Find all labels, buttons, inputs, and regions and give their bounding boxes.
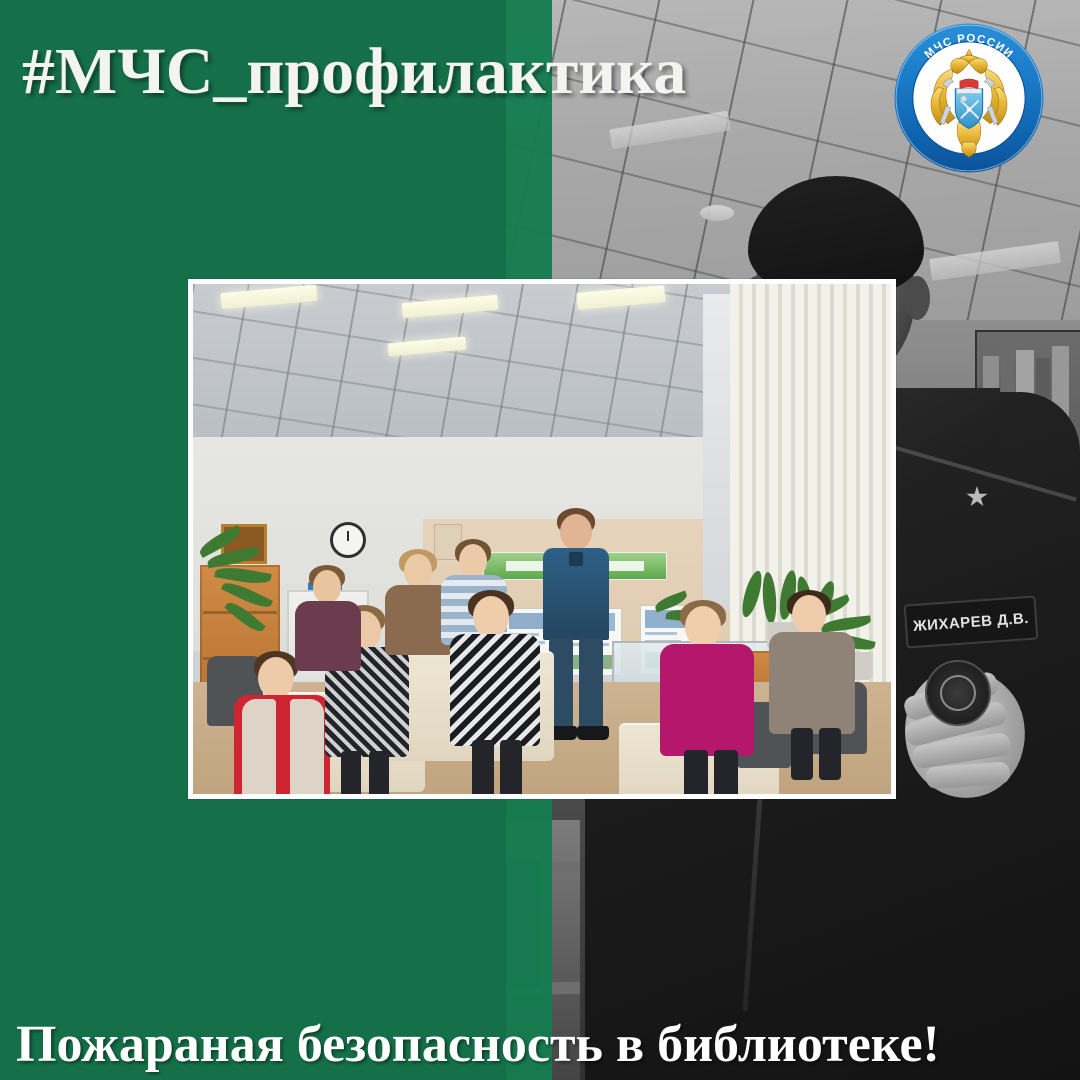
name-patch-text: ЖИХАРЕВ Д.В.: [913, 609, 1030, 634]
poster-caption: Пожараная безопасность в библиотеке!: [16, 1015, 940, 1074]
officer-ear: [904, 276, 930, 320]
photo-seated-person: [654, 600, 764, 775]
poster-canvas: АВ БРО: [0, 0, 1080, 1080]
name-patch: ЖИХАРЕВ Д.В.: [904, 595, 1039, 648]
photo-potted-plant: [193, 529, 303, 649]
inner-photo-frame: [188, 279, 896, 799]
photo-window-frame: [703, 294, 731, 610]
page-title: #МЧС_профилактика: [22, 34, 686, 110]
ceiling-sensor-icon: [700, 205, 734, 221]
wall-clock-icon: [330, 522, 366, 558]
emercom-logo: МЧС РОССИИ ГЛАВНОЕ УПРАВЛЕНИЕ ПО ЛЕНИНГР…: [893, 22, 1045, 174]
photo-seated-person: [444, 590, 548, 760]
photo-seated-person: [765, 590, 861, 740]
photo-seated-person: [291, 565, 369, 665]
inner-photo: [193, 284, 891, 794]
